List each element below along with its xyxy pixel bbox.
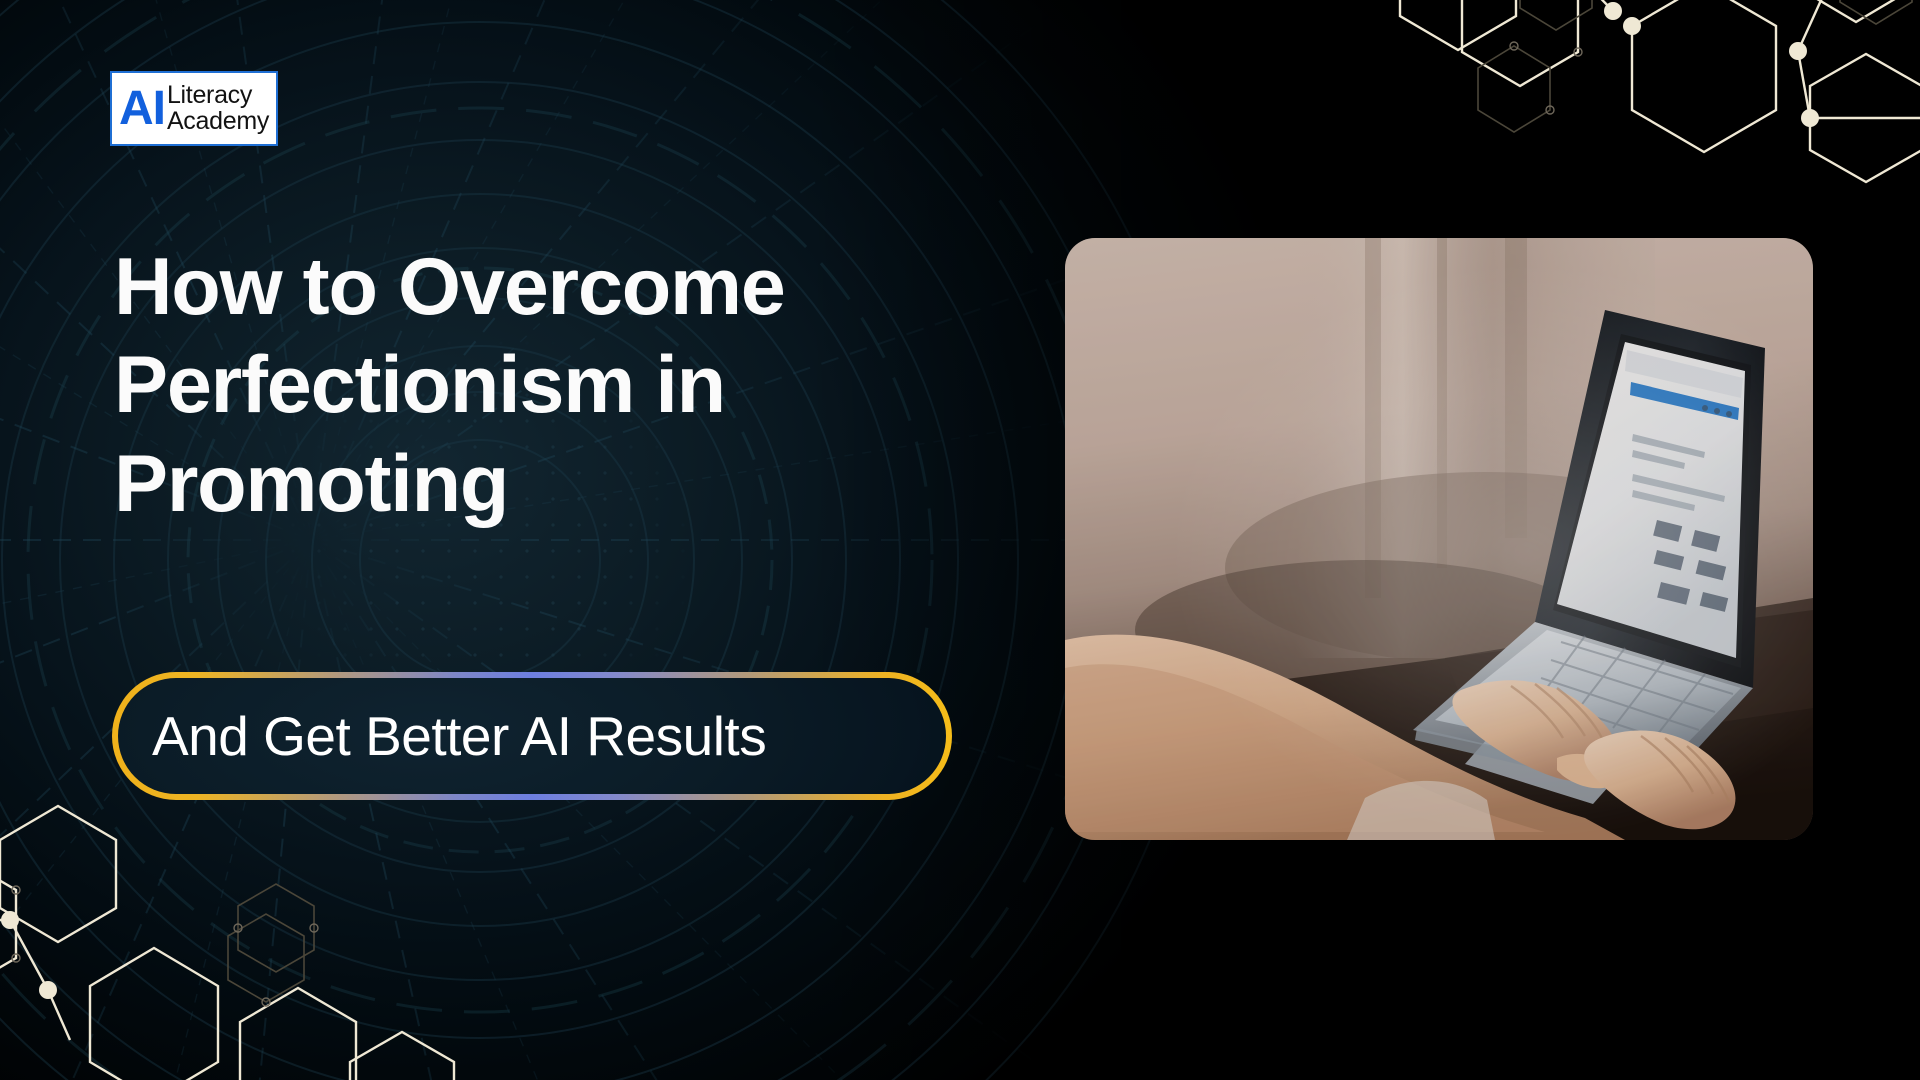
headline-line-3: Promoting: [114, 435, 904, 533]
hero-photo: [1065, 238, 1813, 840]
slide-canvas: AI Literacy Academy How to Overcome Perf…: [0, 0, 1920, 1080]
brand-logo[interactable]: AI Literacy Academy: [110, 71, 278, 146]
hexagon-decoration-top-right: [1370, 0, 1920, 266]
logo-wordmark: Literacy Academy: [167, 83, 269, 134]
logo-ai-mark: AI: [119, 85, 165, 133]
page-title: How to Overcome Perfectionism in Promoti…: [114, 238, 904, 533]
hexagon-decoration-bottom-left: [0, 800, 460, 1080]
subtitle-pill: And Get Better AI Results: [112, 672, 952, 800]
logo-word-literacy: Literacy: [167, 83, 269, 109]
subtitle-text: And Get Better AI Results: [152, 704, 766, 768]
headline-line-1: How to Overcome: [114, 238, 904, 336]
subtitle-pill-inner: And Get Better AI Results: [118, 678, 946, 794]
logo-word-academy: Academy: [167, 109, 269, 135]
headline-line-2: Perfectionism in: [114, 336, 904, 434]
